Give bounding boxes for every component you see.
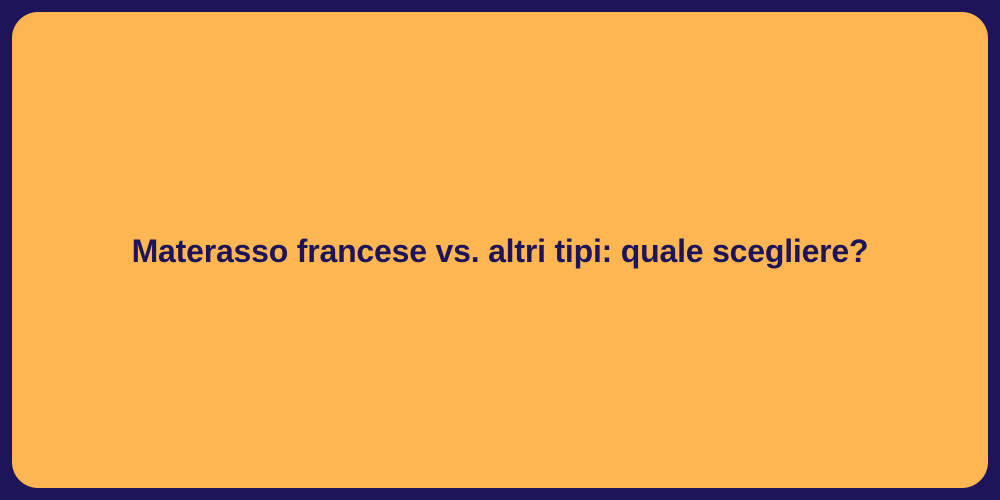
banner-card: Materasso francese vs. altri tipi: quale… [12, 12, 988, 488]
banner-background: Materasso francese vs. altri tipi: quale… [0, 0, 1000, 500]
page-title: Materasso francese vs. altri tipi: quale… [108, 231, 893, 271]
